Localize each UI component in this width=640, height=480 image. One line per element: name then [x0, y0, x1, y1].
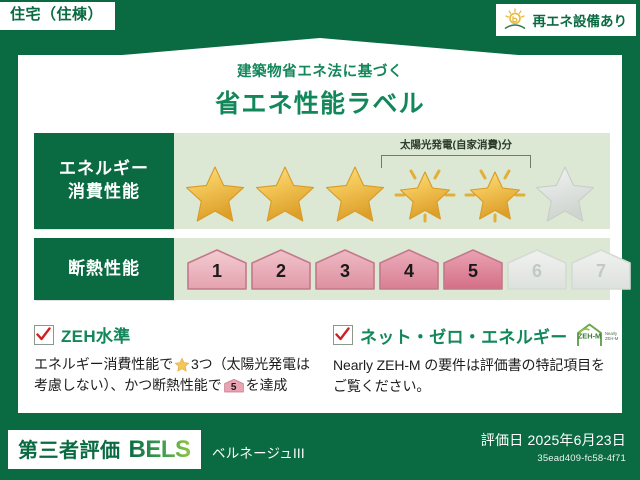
title-subtitle: 建築物省エネ法に基づく — [0, 60, 640, 81]
insulation-performance-label: 断熱性能 — [34, 238, 174, 300]
net-zero-energy-description: Nearly ZEH-M の要件は評価書の特記項目をご覧ください。 — [333, 355, 610, 398]
insulation-grade-badge-icon: 5 — [224, 377, 244, 394]
performance-rows: エネルギー 消費性能 太陽光発電(自家消費)分 — [34, 133, 610, 309]
certification-info: ZEH水準 エネルギー消費性能で3つ（太陽光発電は考慮しない）、かつ断熱性能で5… — [34, 322, 610, 398]
insulation-rating-area: 1 2 3 — [174, 238, 610, 300]
evaluation-id: 35ead409-fc58-4f71 — [481, 453, 626, 464]
label-footer: 第三者評価 BELS ベルネージュIII 評価日 2025年6月23日 35ea… — [0, 418, 640, 480]
insulation-grade-4: 4 — [378, 247, 440, 291]
star-3 — [322, 159, 388, 223]
zeh-standard-block: ZEH水準 エネルギー消費性能で3つ（太陽光発電は考慮しない）、かつ断熱性能で5… — [34, 322, 311, 398]
insulation-performance-row: 断熱性能 — [34, 238, 610, 300]
insulation-grade-5-number: 5 — [442, 261, 504, 282]
energy-label-line2: 消費性能 — [68, 181, 140, 204]
star-1 — [182, 159, 248, 223]
insulation-grade-7-number: 7 — [570, 261, 632, 282]
insulation-grade-1: 1 — [186, 247, 248, 291]
insulation-label-text: 断熱性能 — [68, 258, 140, 281]
zeh-standard-checkbox — [34, 325, 54, 345]
star-6-empty — [532, 159, 598, 223]
renewable-tag-label: 再エネ設備あり — [533, 10, 628, 30]
svg-text:ZEH-M: ZEH-M — [605, 336, 619, 341]
insulation-grade-5: 5 — [442, 247, 504, 291]
energy-rating-area: 太陽光発電(自家消費)分 — [174, 133, 610, 229]
bels-badge: 第三者評価 BELS — [8, 430, 201, 469]
net-zero-energy-checkbox — [333, 325, 353, 345]
insulation-grade-3-number: 3 — [314, 261, 376, 282]
svg-text:ZEH-M: ZEH-M — [577, 332, 600, 341]
energy-performance-row: エネルギー 消費性能 太陽光発電(自家消費)分 — [34, 133, 610, 229]
solar-bracket-caption: 太陽光発電(自家消費)分 — [370, 137, 542, 152]
evaluation-info: 評価日 2025年6月23日 35ead409-fc58-4f71 — [481, 430, 626, 464]
label-title-block: 建築物省エネ法に基づく 省エネ性能ラベル — [0, 60, 640, 120]
insulation-grade-6-number: 6 — [506, 261, 568, 282]
zeh-standard-title: ZEH水準 — [61, 322, 131, 347]
zeh-text-part3: を達成 — [246, 377, 288, 393]
house-type-tag: 住宅（住棟） — [0, 2, 115, 30]
insulation-grade-scale: 1 2 3 — [186, 247, 632, 291]
star-5-solar — [462, 159, 528, 223]
insulation-grade-1-number: 1 — [186, 261, 248, 282]
building-name: ベルネージュIII — [212, 442, 305, 462]
bels-logo-text: BELS — [129, 436, 191, 464]
energy-performance-label: エネルギー 消費性能 — [34, 133, 174, 229]
zeh-standard-description: エネルギー消費性能で3つ（太陽光発電は考慮しない）、かつ断熱性能で5を達成 — [34, 354, 311, 397]
star-rating — [182, 159, 598, 223]
page-title: 省エネ性能ラベル — [0, 84, 640, 120]
insulation-grade-6: 6 — [506, 247, 568, 291]
insulation-grade-7: 7 — [570, 247, 632, 291]
net-zero-energy-title: ネット・ゼロ・エネルギー — [360, 323, 568, 348]
energy-label-line1: エネルギー — [59, 158, 149, 181]
sun-renewable-icon — [502, 8, 528, 32]
star-2 — [252, 159, 318, 223]
net-zero-energy-header: ネット・ゼロ・エネルギー ZEH-M Nearly ZEH-M — [333, 322, 610, 348]
insulation-grade-2: 2 — [250, 247, 312, 291]
net-zero-energy-block: ネット・ゼロ・エネルギー ZEH-M Nearly ZEH-M Nearly Z… — [333, 322, 610, 398]
zeh-standard-header: ZEH水準 — [34, 322, 311, 347]
star-icon — [174, 356, 190, 372]
renewable-equipment-tag: 再エネ設備あり — [496, 4, 637, 36]
insulation-grade-4-number: 4 — [378, 261, 440, 282]
insulation-grade-2-number: 2 — [250, 261, 312, 282]
energy-performance-label: 住宅（住棟） 再エネ設備あり 建築物省エネ法に基づく 省エネ性能ラベル — [0, 0, 640, 480]
zeh-text-part1: エネルギー消費性能で — [34, 356, 173, 372]
insulation-grade-3: 3 — [314, 247, 376, 291]
inline-house-number: 5 — [224, 380, 244, 395]
house-type-tag-label: 住宅（住棟） — [10, 6, 103, 23]
bels-jp-label: 第三者評価 — [18, 434, 121, 463]
star-4-solar — [392, 159, 458, 223]
evaluation-date: 評価日 2025年6月23日 — [481, 430, 626, 450]
zeh-m-logo-icon: ZEH-M Nearly ZEH-M — [575, 322, 621, 348]
